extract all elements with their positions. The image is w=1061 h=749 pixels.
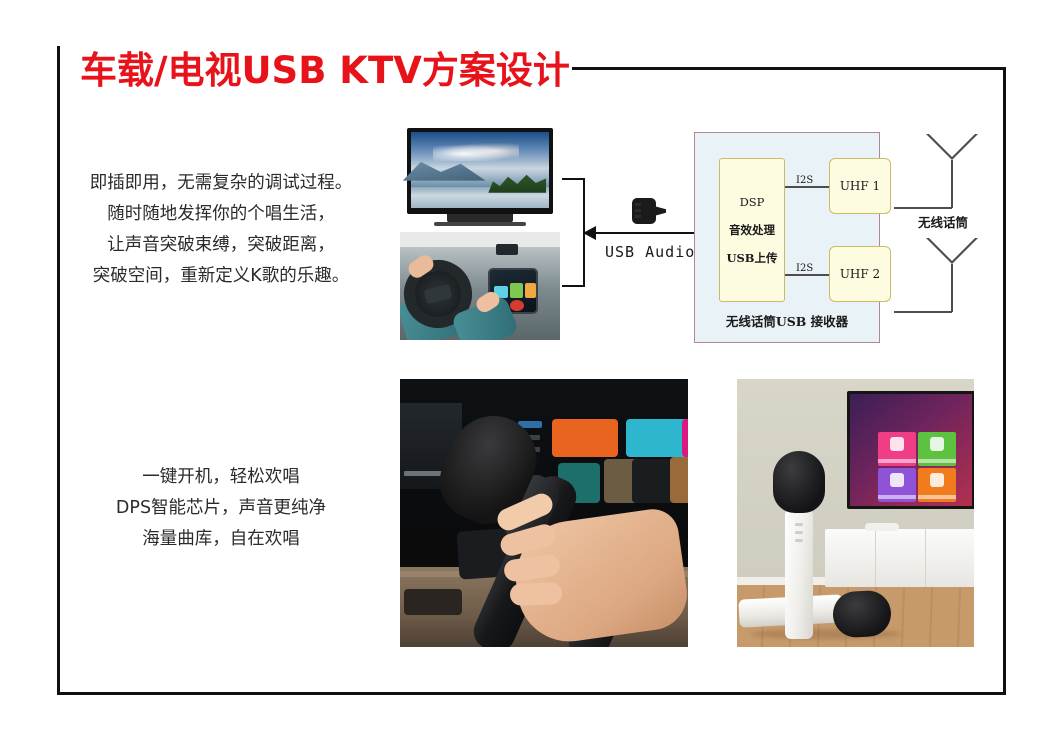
usb-pin-3: [635, 215, 641, 218]
feature-text-top-line-3: 让声音突破束缚，突破距离，: [62, 230, 380, 261]
tv-base: [434, 222, 526, 226]
uhf1-label: UHF 1: [840, 179, 880, 194]
uhf2-label: UHF 2: [840, 267, 880, 282]
tv-cabinet: [825, 529, 974, 587]
car-screen-tile-4: [510, 300, 524, 311]
antenna-1-stem: [951, 160, 953, 208]
i2s-line-bottom: [785, 274, 829, 276]
cabinet-remote: [865, 523, 899, 531]
diagram-caption: 无线话筒USB 接收器: [695, 311, 879, 330]
usb-connector-tip: [654, 206, 666, 216]
car-screen-tile-2: [510, 283, 523, 298]
car-screen-tile-3: [525, 283, 536, 298]
screen-tile-2: [626, 419, 688, 457]
tv-app-tile-4: [918, 468, 956, 502]
antenna-2-stem: [951, 264, 953, 312]
arrow-left-icon: [583, 226, 596, 240]
i2s-label-bottom: I2S: [794, 263, 815, 274]
tv-app-caption-2: [918, 459, 956, 463]
dsp-usb-label: USB上传: [726, 251, 777, 266]
flat-screen-tv-photo: [400, 126, 560, 229]
microphone-button-1: [795, 523, 803, 526]
microphone-button-2: [795, 531, 803, 534]
car-interior-photo: [400, 232, 560, 340]
wall-mounted-tv: [847, 391, 974, 509]
feature-text-bottom-line-3: 海量曲库，自在欢唱: [78, 524, 364, 555]
usb-pin-2: [635, 209, 641, 212]
usb-audio-line: [585, 232, 690, 234]
feature-text-top-line-1: 即插即用，无需复杂的调试过程。: [62, 168, 380, 199]
cabinet-seam-1: [875, 529, 876, 587]
feature-text-bottom: 一键开机，轻松欢唱 DPS智能芯片，声音更纯净 海量曲库，自在欢唱: [78, 462, 364, 555]
i2s-label-top: I2S: [794, 175, 815, 186]
antenna-1-lead: [894, 207, 952, 209]
receiver-block-diagram: DSP 音效处理 USB上传 I2S I2S UHF 1 UHF 2 无线话筒U…: [694, 132, 880, 343]
tv-app-tile-2: [918, 432, 956, 466]
tv-bezel: [407, 128, 553, 214]
dsp-block: DSP 音效处理 USB上传: [719, 158, 785, 302]
microphone-standing-foam-head: [773, 451, 825, 513]
frame-left-border: [57, 46, 60, 695]
tv-app-icon-3: [890, 473, 904, 487]
tv-screen-clouds: [433, 143, 519, 161]
frame-bottom-border: [57, 692, 1006, 695]
antenna-2-lead: [894, 311, 952, 313]
screen-tile-1: [552, 419, 618, 457]
dsp-label: DSP: [740, 195, 765, 210]
tv-app-tile-3: [878, 468, 916, 502]
frame-top-border: [572, 67, 1006, 70]
antenna-1-inner: [929, 134, 975, 157]
tv-app-caption-1: [878, 459, 916, 463]
tv-app-icon-1: [890, 437, 904, 451]
microphone-in-car-photo: [400, 379, 688, 647]
antenna-label: 无线话筒: [918, 212, 968, 231]
feature-text-top-line-4: 突破空间，重新定义K歌的乐趣。: [62, 261, 380, 292]
car-connection-line: [562, 285, 585, 287]
tv-screen-trees: [488, 167, 546, 193]
tv-app-tile-1: [878, 432, 916, 466]
frame-right-border: [1003, 67, 1006, 695]
i2s-line-top: [785, 186, 829, 188]
microphone-standing-body: [785, 509, 813, 639]
screen-tile-3: [682, 419, 688, 457]
microphone-button-3: [795, 539, 803, 542]
feature-text-top-line-2: 随时随地发挥你的个唱生活，: [62, 199, 380, 230]
usb-connector-body: [632, 198, 656, 224]
antenna-group: 无线话筒: [880, 128, 1000, 343]
usb-audio-label: USB Audio: [605, 243, 695, 261]
tv-app-icon-4: [930, 473, 944, 487]
finger-4: [510, 582, 563, 606]
tv-app-icon-2: [930, 437, 944, 451]
dashboard-vent: [404, 589, 462, 615]
tv-screen-mountains: [403, 158, 486, 181]
car-rearview-module: [496, 244, 518, 255]
feature-text-top: 即插即用，无需复杂的调试过程。 随时随地发挥你的个唱生活， 让声音突破束缚，突破…: [62, 168, 380, 292]
screen-tile-7: [670, 457, 688, 503]
feature-text-bottom-line-2: DPS智能芯片，声音更纯净: [78, 493, 364, 524]
usb-pin-1: [635, 203, 641, 206]
living-room-microphones-photo: [737, 379, 974, 647]
cabinet-seam-2: [925, 529, 926, 587]
page-title: 车载/电视USB KTV方案设计: [80, 40, 570, 94]
tv-screen: [411, 132, 549, 208]
slide-canvas: 车载/电视USB KTV方案设计 即插即用，无需复杂的调试过程。 随时随地发挥你…: [0, 0, 1061, 749]
antenna-2-inner: [929, 238, 975, 261]
feature-text-bottom-line-1: 一键开机，轻松欢唱: [78, 462, 364, 493]
dsp-audio-label: 音效处理: [729, 223, 775, 238]
tv-app-caption-4: [918, 495, 956, 499]
usb-connector-icon: [620, 198, 666, 224]
tv-connection-line: [562, 178, 585, 180]
tv-app-caption-3: [878, 495, 916, 499]
